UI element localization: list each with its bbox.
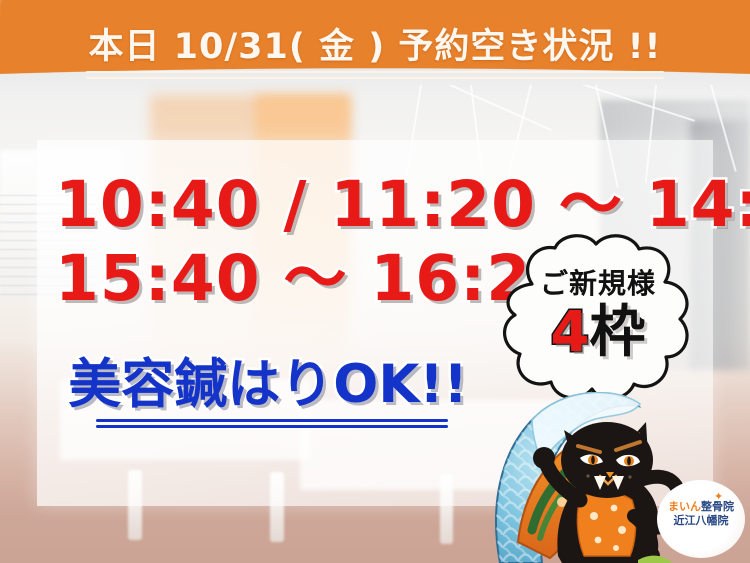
bubble-unit: 枠 [589,300,645,365]
logo-brand-name: まいん [668,500,701,513]
promo-double-rule [96,419,448,428]
bubble-text: ご新規様 4枠 [494,268,702,362]
promo-rule-top [96,419,448,422]
promo-rule-bottom [96,425,448,428]
promo-text: 美容鍼はりOK!! [58,355,478,415]
logo-line-2: 近江八幡院 [657,514,745,527]
header-double-rule [86,71,664,79]
flyer-canvas: 本日 10/31( 金 ) 予約空き状況 !! 10:40 / 11:20 ～ … [0,0,750,563]
new-patient-bubble: ご新規様 4枠 [494,230,702,415]
logo-line-1: まいん整骨院 [657,500,745,513]
header-rule-bottom [86,77,664,79]
bubble-label: ご新規様 [494,268,702,300]
promo-block: 美容鍼はりOK!! [58,355,478,415]
page-title: 本日 10/31( 金 ) 予約空き状況 !! [0,18,750,69]
bubble-count: 4 [551,300,590,365]
header-rule-top [86,71,664,73]
clinic-logo-badge[interactable]: ✦ まいん整骨院 近江八幡院 [657,480,745,558]
logo-clinic-type: 整骨院 [701,500,734,513]
bubble-count-row: 4枠 [494,304,702,362]
